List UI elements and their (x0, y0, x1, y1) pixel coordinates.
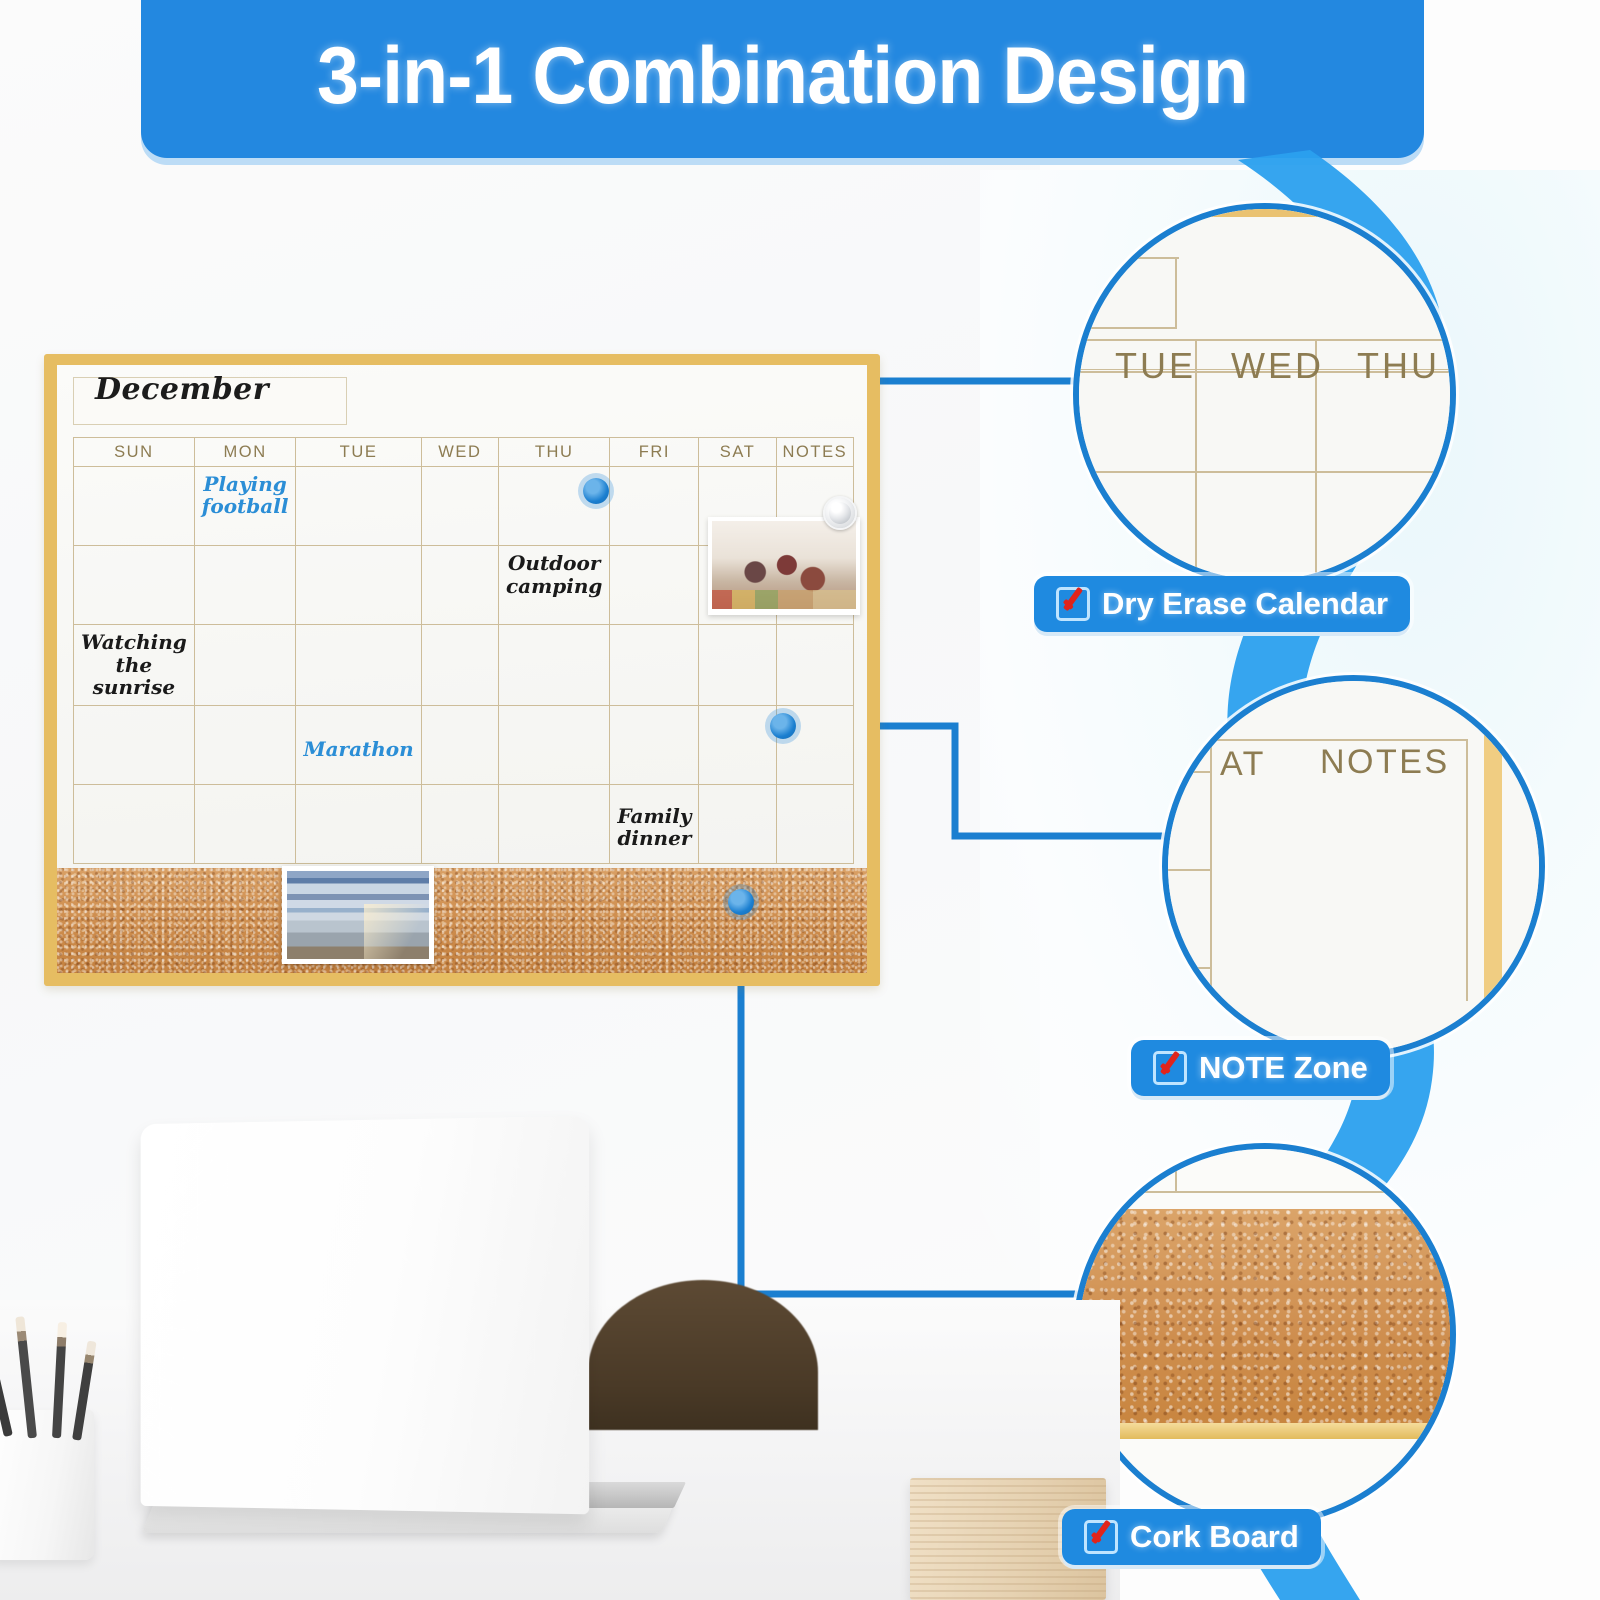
feature-badge-cork-board[interactable]: Cork Board (1062, 1509, 1321, 1565)
callout-dot-calendar[interactable] (583, 478, 609, 504)
calendar-cell[interactable] (610, 706, 699, 785)
laptop-lid (141, 1116, 590, 1515)
magnified-cork-texture (1073, 1209, 1456, 1427)
magnified-day-label-wed: WED (1231, 345, 1324, 387)
calendar-header-tue: TUE (296, 438, 421, 467)
calendar-entry-line: Outdoor (506, 552, 602, 574)
feature-badge-dry-erase-calendar[interactable]: Dry Erase Calendar (1034, 576, 1410, 632)
magnified-grid-line (1073, 327, 1177, 329)
magnified-grid-line (1162, 771, 1212, 773)
magnifier-dry-erase-calendar[interactable]: TUE WED THU (1073, 203, 1456, 586)
desk-scene (0, 1090, 1120, 1600)
round-magnet-icon[interactable] (823, 496, 857, 530)
checkbox-checked-icon (1056, 587, 1090, 621)
calendar-entry-line: dinner (617, 827, 691, 849)
calendar-cell[interactable] (422, 467, 499, 546)
dry-erase-calendar-surface[interactable]: December SUN MON TUE WED THU FRI SAT NOT… (57, 365, 867, 868)
calendar-cell[interactable] (296, 625, 421, 705)
feature-badge-note-zone[interactable]: NOTE Zone (1131, 1040, 1390, 1096)
calendar-cell[interactable] (699, 625, 776, 705)
magnified-day-label-tue: TUE (1115, 345, 1196, 387)
family-photo-image (712, 521, 856, 609)
magnified-gold-frame-edge (1073, 1423, 1456, 1439)
feature-label: NOTE Zone (1199, 1050, 1368, 1086)
magnifier-cork-board[interactable] (1073, 1143, 1456, 1526)
beach-photo-image (287, 871, 429, 959)
magnified-grid-line (1162, 869, 1212, 871)
calendar-cell[interactable] (499, 785, 610, 864)
calendar-cell-entry-marathon[interactable]: Marathon (296, 706, 421, 785)
calendar-entry-line: football (202, 495, 289, 517)
calendar-cell[interactable] (610, 467, 699, 546)
month-label: December (95, 372, 269, 407)
calendar-cell[interactable] (699, 785, 776, 864)
calendar-cell[interactable] (610, 546, 699, 625)
magnified-grid-line (1175, 257, 1177, 329)
calendar-entry-line: Playing (202, 473, 289, 495)
calendar-cell[interactable] (74, 785, 195, 864)
magnifier-surface (1079, 209, 1450, 580)
callout-dot-note-zone[interactable] (770, 713, 796, 739)
magnified-grid-line (1162, 967, 1212, 969)
calendar-cell[interactable] (195, 546, 297, 625)
calendar-header-notes: NOTES (777, 438, 854, 467)
magnified-label-notes: NOTES (1320, 743, 1450, 782)
calendar-grid: SUN MON TUE WED THU FRI SAT NOTES Playin… (73, 437, 854, 864)
calendar-entry-line: Marathon (303, 738, 413, 760)
cork-board-surface[interactable] (57, 868, 867, 973)
calendar-header-fri: FRI (610, 438, 699, 467)
feature-label: Cork Board (1130, 1519, 1299, 1555)
calendar-cell-entry-family-dinner[interactable]: Family dinner (610, 785, 699, 864)
calendar-cell[interactable] (422, 785, 499, 864)
calendar-cell[interactable] (296, 546, 421, 625)
calendar-cell[interactable] (74, 467, 195, 546)
calendar-cell[interactable] (74, 706, 195, 785)
calendar-cell-entry-outdoor-camping[interactable]: Outdoor camping (499, 546, 610, 625)
feature-label: Dry Erase Calendar (1102, 586, 1388, 622)
calendar-header-sun: SUN (74, 438, 195, 467)
magnified-grid-line (1073, 471, 1456, 473)
calendar-header-wed: WED (422, 438, 499, 467)
calendar-cell[interactable] (499, 706, 610, 785)
calendar-cell[interactable] (296, 467, 421, 546)
magnified-gold-frame-edge (1484, 675, 1502, 1058)
magnifier-note-zone[interactable]: AT NOTES (1162, 675, 1545, 1058)
magnified-grid-line (1073, 257, 1179, 259)
callout-dot-cork[interactable] (728, 889, 754, 915)
product-board[interactable]: December SUN MON TUE WED THU FRI SAT NOT… (44, 354, 880, 986)
checkbox-checked-icon (1084, 1520, 1118, 1554)
calendar-cell[interactable] (296, 785, 421, 864)
calendar-cell[interactable] (499, 625, 610, 705)
calendar-entry-line: Watching (81, 631, 187, 653)
calendar-cell-notes[interactable] (777, 785, 854, 864)
calendar-cell-notes[interactable] (777, 625, 854, 705)
calendar-entry-line: camping (506, 575, 602, 597)
calendar-cell[interactable] (699, 706, 776, 785)
magnified-grid-line (1162, 739, 1468, 741)
calendar-cell-entry-watching-sunrise[interactable]: Watching the sunrise (74, 625, 195, 705)
calendar-cell[interactable] (195, 625, 297, 705)
calendar-cell-entry-playing-football[interactable]: Playing football (195, 467, 297, 546)
calendar-cell[interactable] (195, 785, 297, 864)
checkbox-checked-icon (1153, 1051, 1187, 1085)
calendar-cell[interactable] (422, 706, 499, 785)
calendar-cell[interactable] (422, 546, 499, 625)
family-photo[interactable] (708, 517, 860, 615)
calendar-cell[interactable] (195, 706, 297, 785)
calendar-entry-line: Family (617, 805, 691, 827)
calendar-cell[interactable] (422, 625, 499, 705)
calendar-cell[interactable] (610, 625, 699, 705)
magnified-label-sat-partial: AT (1220, 745, 1266, 784)
magnified-day-label-thu: THU (1357, 345, 1440, 387)
board-surface: December SUN MON TUE WED THU FRI SAT NOT… (57, 365, 867, 973)
magnified-grid-line (1073, 339, 1456, 341)
calendar-header-mon: MON (195, 438, 297, 467)
calendar-header-sat: SAT (699, 438, 776, 467)
magnified-grid-line (1466, 739, 1468, 1001)
magnified-grid-line (1073, 1191, 1456, 1193)
calendar-entry-line: the sunrise (81, 654, 187, 699)
calendar-header-thu: THU (499, 438, 610, 467)
calendar-cell[interactable] (74, 546, 195, 625)
magnified-grid-line (1175, 1143, 1177, 1193)
beach-photo[interactable] (282, 866, 434, 964)
